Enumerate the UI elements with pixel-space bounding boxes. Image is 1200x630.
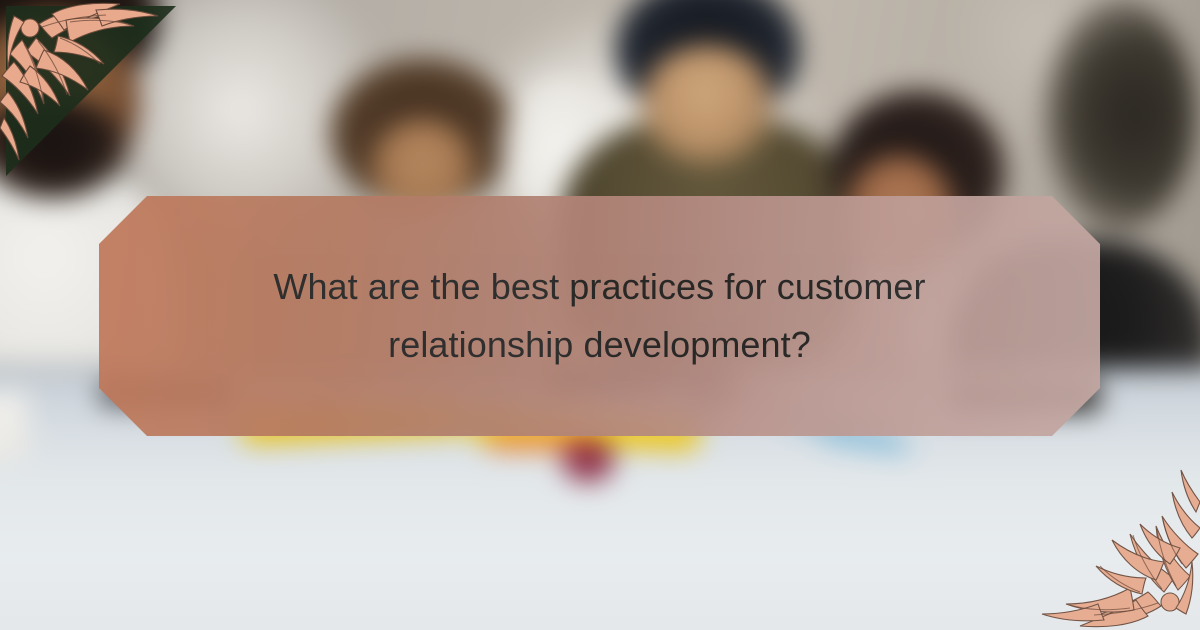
background-dark-edge [1045, 0, 1195, 230]
question-card-graphic: What are the best practices for customer… [0, 0, 1200, 630]
desk-item-maroon-dot [562, 438, 614, 482]
question-card: What are the best practices for customer… [99, 196, 1100, 436]
figure-center-man-face [640, 45, 775, 165]
question-text: What are the best practices for customer… [220, 258, 980, 375]
